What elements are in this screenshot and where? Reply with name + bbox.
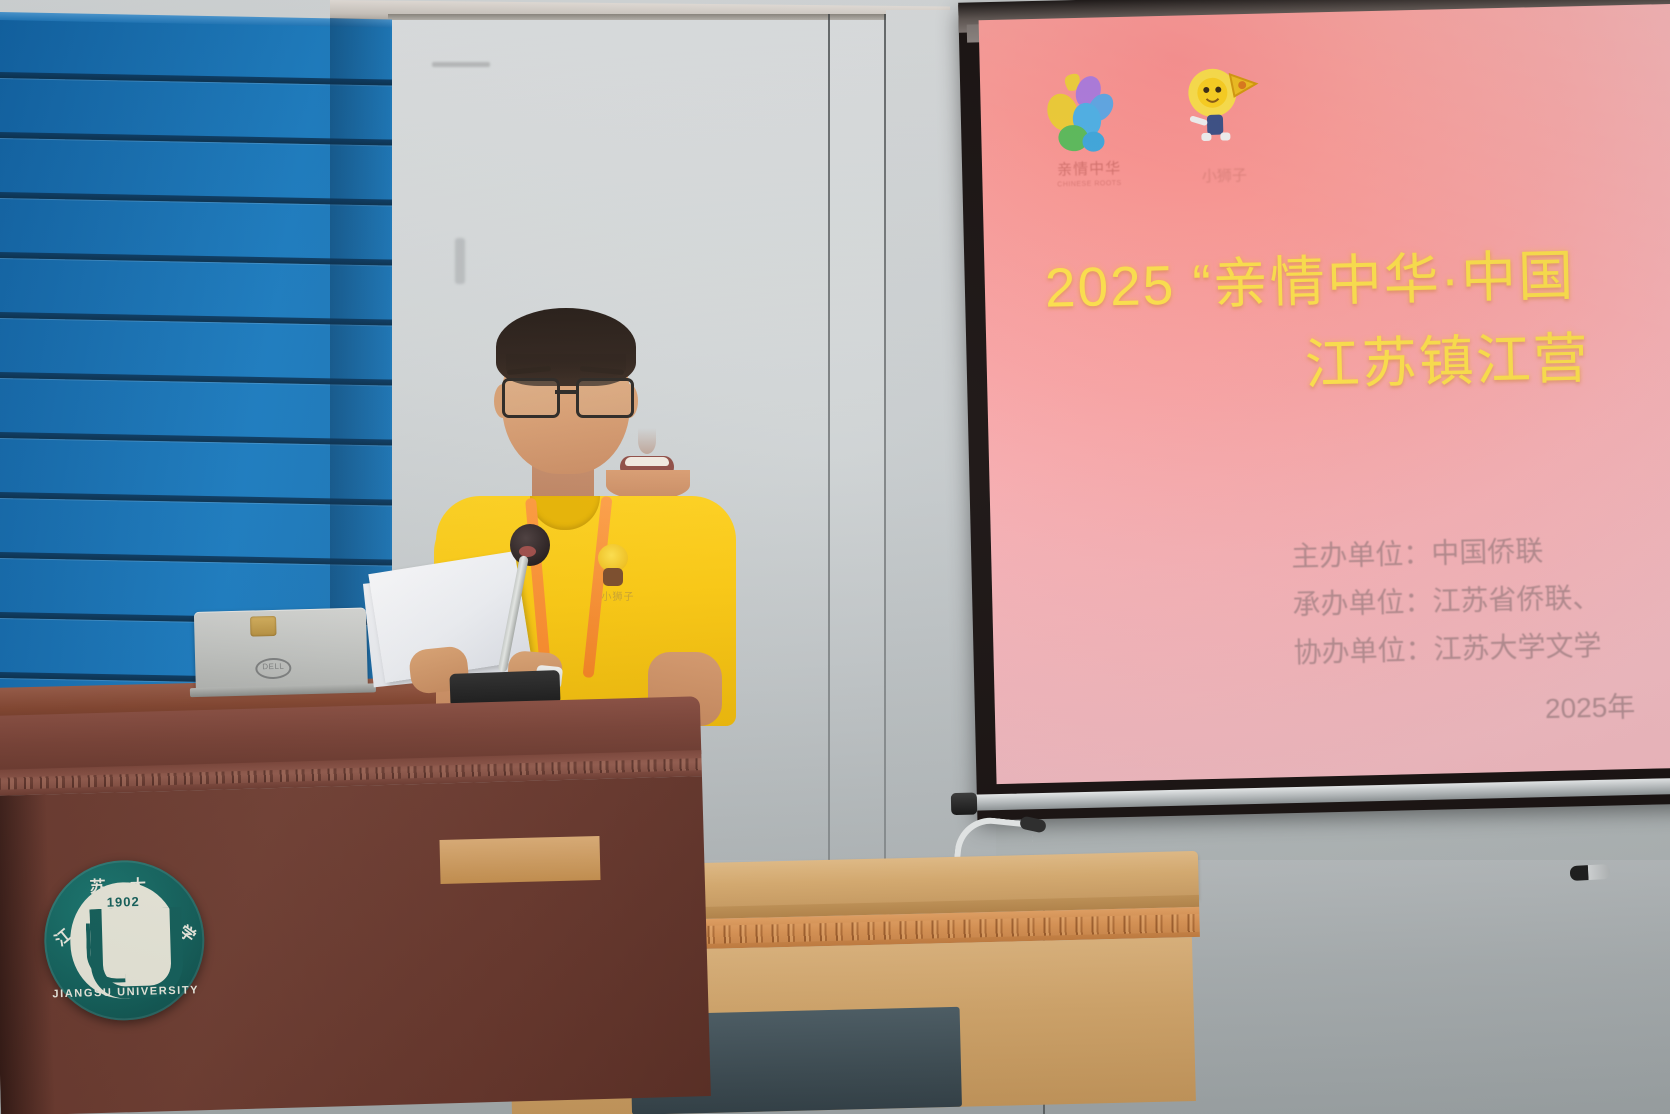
slide-logo-right-caption: 小狮子 [1164, 163, 1285, 196]
lens-right [576, 378, 634, 418]
lion-mascot-logo-icon [1170, 61, 1283, 174]
microphone-gooseneck [498, 555, 529, 673]
screen-bracket-left [951, 793, 978, 816]
slide-logo-row: 亲情中华 CHINESE ROOTS [1038, 60, 1341, 197]
podium-side-shelf [439, 836, 600, 884]
slide-logo-left-caption: 亲情中华 CHINESE ROOTS [1036, 160, 1143, 196]
glasses-bridge [555, 390, 577, 394]
microphone-head-icon [1570, 864, 1611, 881]
slide-date: 2025年 [1544, 678, 1670, 733]
laptop: DELL [194, 608, 368, 694]
slide-title-line2: 江苏镇江营 [1304, 311, 1670, 405]
slide-title: 2025 “亲情中华·中国 江苏镇江营 [1044, 229, 1670, 412]
laptop-hinge-latch [250, 616, 277, 637]
wall-smudge-secondary [455, 238, 465, 284]
projected-slide: 亲情中华 CHINESE ROOTS [979, 4, 1670, 784]
maroon-rostrum: 苏 大 江 学 1902 JIANGSU UNIVERSITY [0, 696, 711, 1114]
qinqing-zhonghua-logo-icon [1038, 71, 1136, 165]
slide-title-line1: 2025 “亲情中华·中国 [1044, 244, 1576, 318]
tshirt-lion-body [603, 568, 623, 586]
teeth [625, 457, 669, 466]
emblem-wave-strokes [86, 922, 142, 989]
nose [638, 428, 656, 454]
microphone-head-icon [510, 524, 550, 566]
wall-smudge [432, 62, 490, 67]
lens-left [502, 378, 560, 418]
projection-screen: 亲情中华 CHINESE ROOTS [906, 0, 1670, 832]
slide-organizer-list: 主办单位：中国侨联 承办单位：江苏省侨联、 协办单位：江苏大学文学 2025年 [1291, 520, 1670, 740]
laptop-lid [194, 608, 368, 692]
eyeglasses-icon [500, 378, 632, 414]
hair [496, 308, 636, 386]
wall-panel-seam [828, 14, 830, 874]
photo-scene: 亲情中华 CHINESE ROOTS [0, 0, 1670, 1114]
